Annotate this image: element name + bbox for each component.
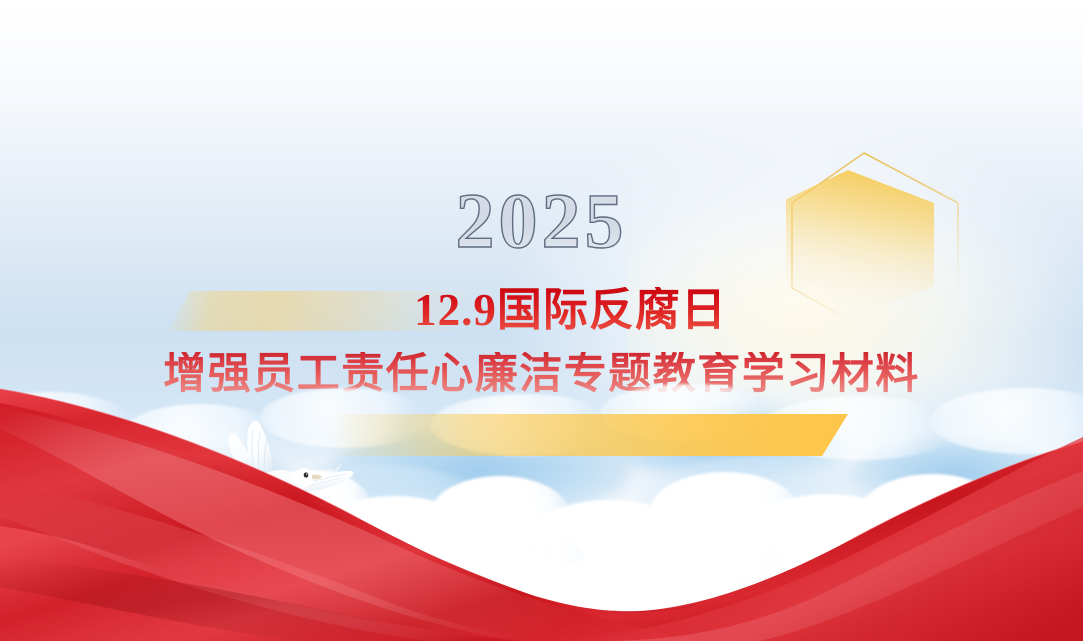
poster-canvas: 2025 12.9国际反腐日 增强员工责任心廉洁专题教育学习材料	[0, 0, 1083, 641]
year-label: 2025	[0, 182, 1083, 260]
year-text: 2025	[456, 177, 628, 264]
red-silk-ribbon	[0, 311, 1083, 641]
